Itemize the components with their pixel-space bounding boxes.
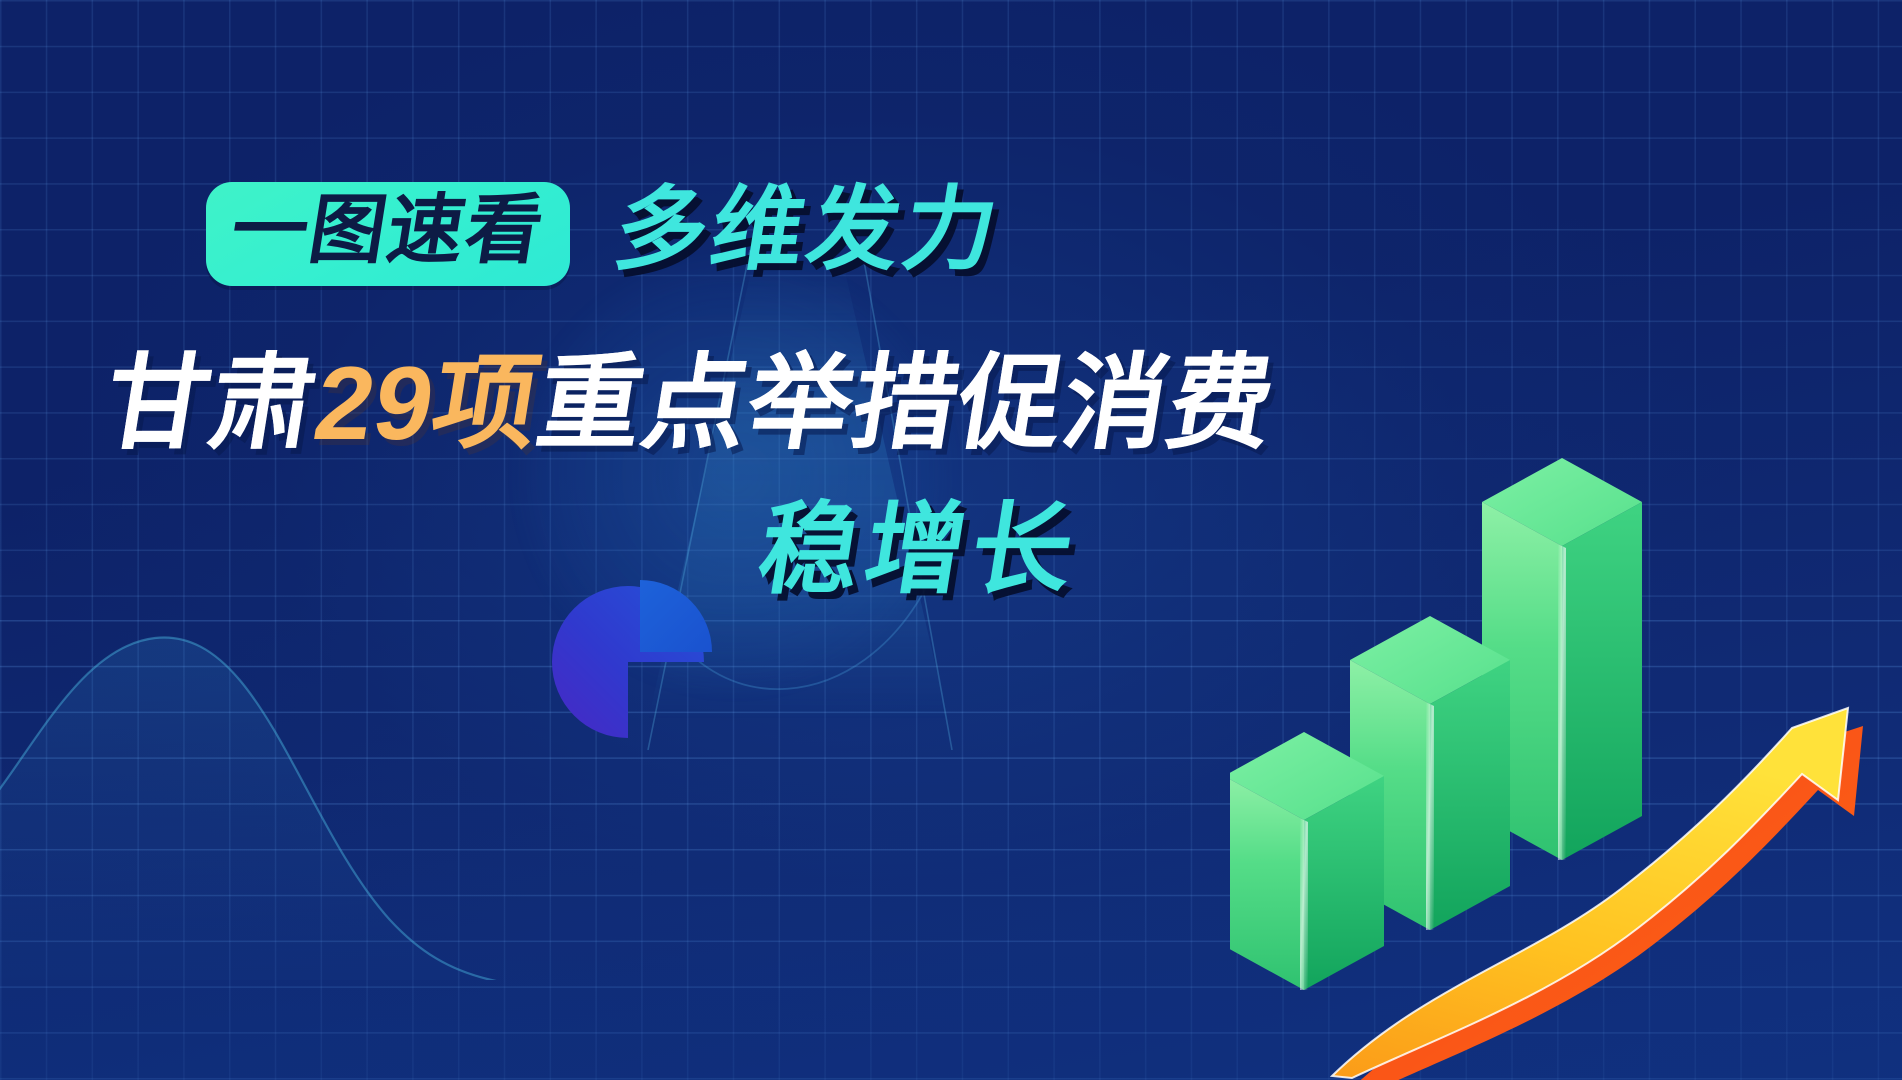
headline-subtitle: 多维发力	[609, 184, 1008, 276]
headline-count: 29项	[307, 346, 548, 462]
quick-view-badge-label: 一图速看	[226, 192, 550, 270]
quick-view-badge: 一图速看	[206, 182, 570, 286]
poster-canvas: 一图速看 多维发力 甘肃29项重点举措促消费 稳增长	[0, 0, 1902, 1080]
headline-row-3: 稳增长	[752, 500, 1086, 600]
headline-province: 甘肃	[97, 346, 325, 462]
headline-row-2: 甘肃29项重点举措促消费	[98, 352, 1282, 456]
headline-row-1: 一图速看 多维发力	[206, 182, 1000, 286]
headline-block: 一图速看 多维发力 甘肃29项重点举措促消费 稳增长	[0, 0, 1902, 1080]
headline-measures: 重点举措促消费	[530, 346, 1283, 462]
